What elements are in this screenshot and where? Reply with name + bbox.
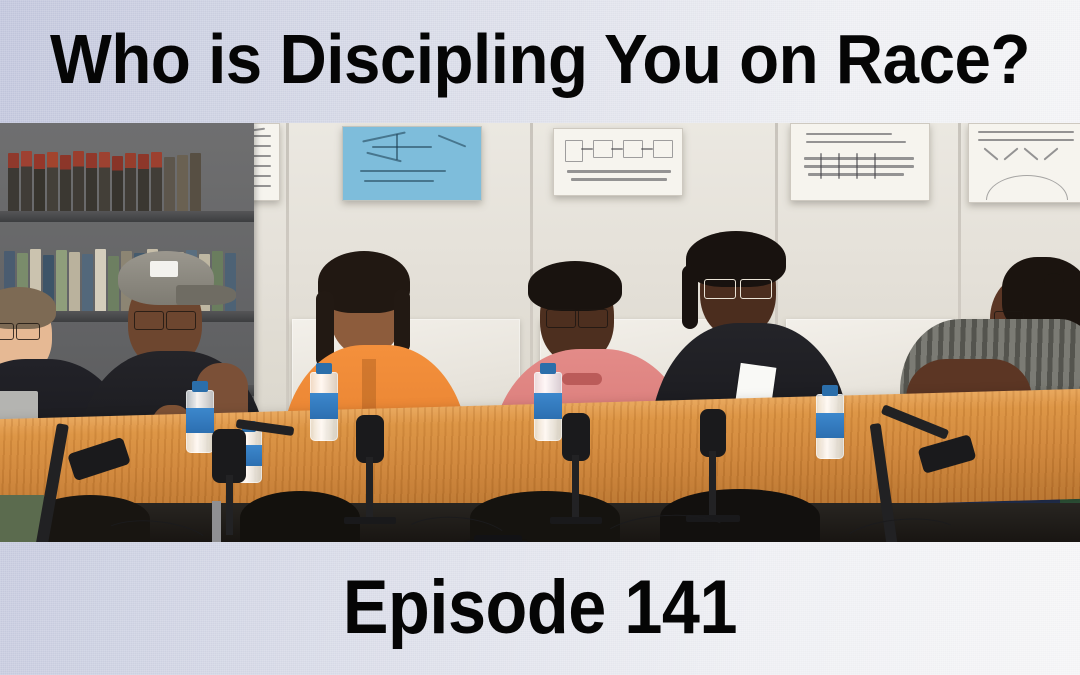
- dreadlocks: [682, 265, 698, 329]
- mic-stand: [226, 475, 233, 535]
- mic-stand: [709, 451, 716, 517]
- wall-seam: [286, 123, 289, 423]
- mic-stand: [366, 457, 373, 519]
- mic-stand-base: [550, 517, 602, 524]
- folded-arms: [562, 373, 602, 385]
- table-leg: [212, 501, 221, 542]
- episode-photo: [0, 123, 1080, 542]
- dreadlocks: [394, 289, 410, 353]
- white-sketch-panel-text: [790, 123, 930, 201]
- episode-number-label: Episode 141: [54, 567, 1026, 649]
- water-bottle: [310, 363, 338, 441]
- microphone: [356, 415, 384, 463]
- water-bottle: [816, 385, 844, 459]
- podcast-episode-cover: Who is Discipling You on Race?: [0, 0, 1080, 675]
- page-title: Who is Discipling You on Race?: [35, 21, 1045, 97]
- mic-stand: [572, 455, 579, 519]
- white-sketch-panel-diagram: [553, 128, 683, 196]
- mic-stand-base: [344, 517, 396, 524]
- white-sketch-panel-arch: [968, 123, 1080, 203]
- water-bottle: [534, 363, 562, 441]
- book-row-top: [8, 151, 201, 211]
- water-bottle: [186, 381, 214, 453]
- cap-logo: [150, 261, 178, 277]
- blue-sketch-panel: [342, 126, 482, 201]
- microphone: [562, 413, 590, 461]
- microphone: [700, 409, 726, 457]
